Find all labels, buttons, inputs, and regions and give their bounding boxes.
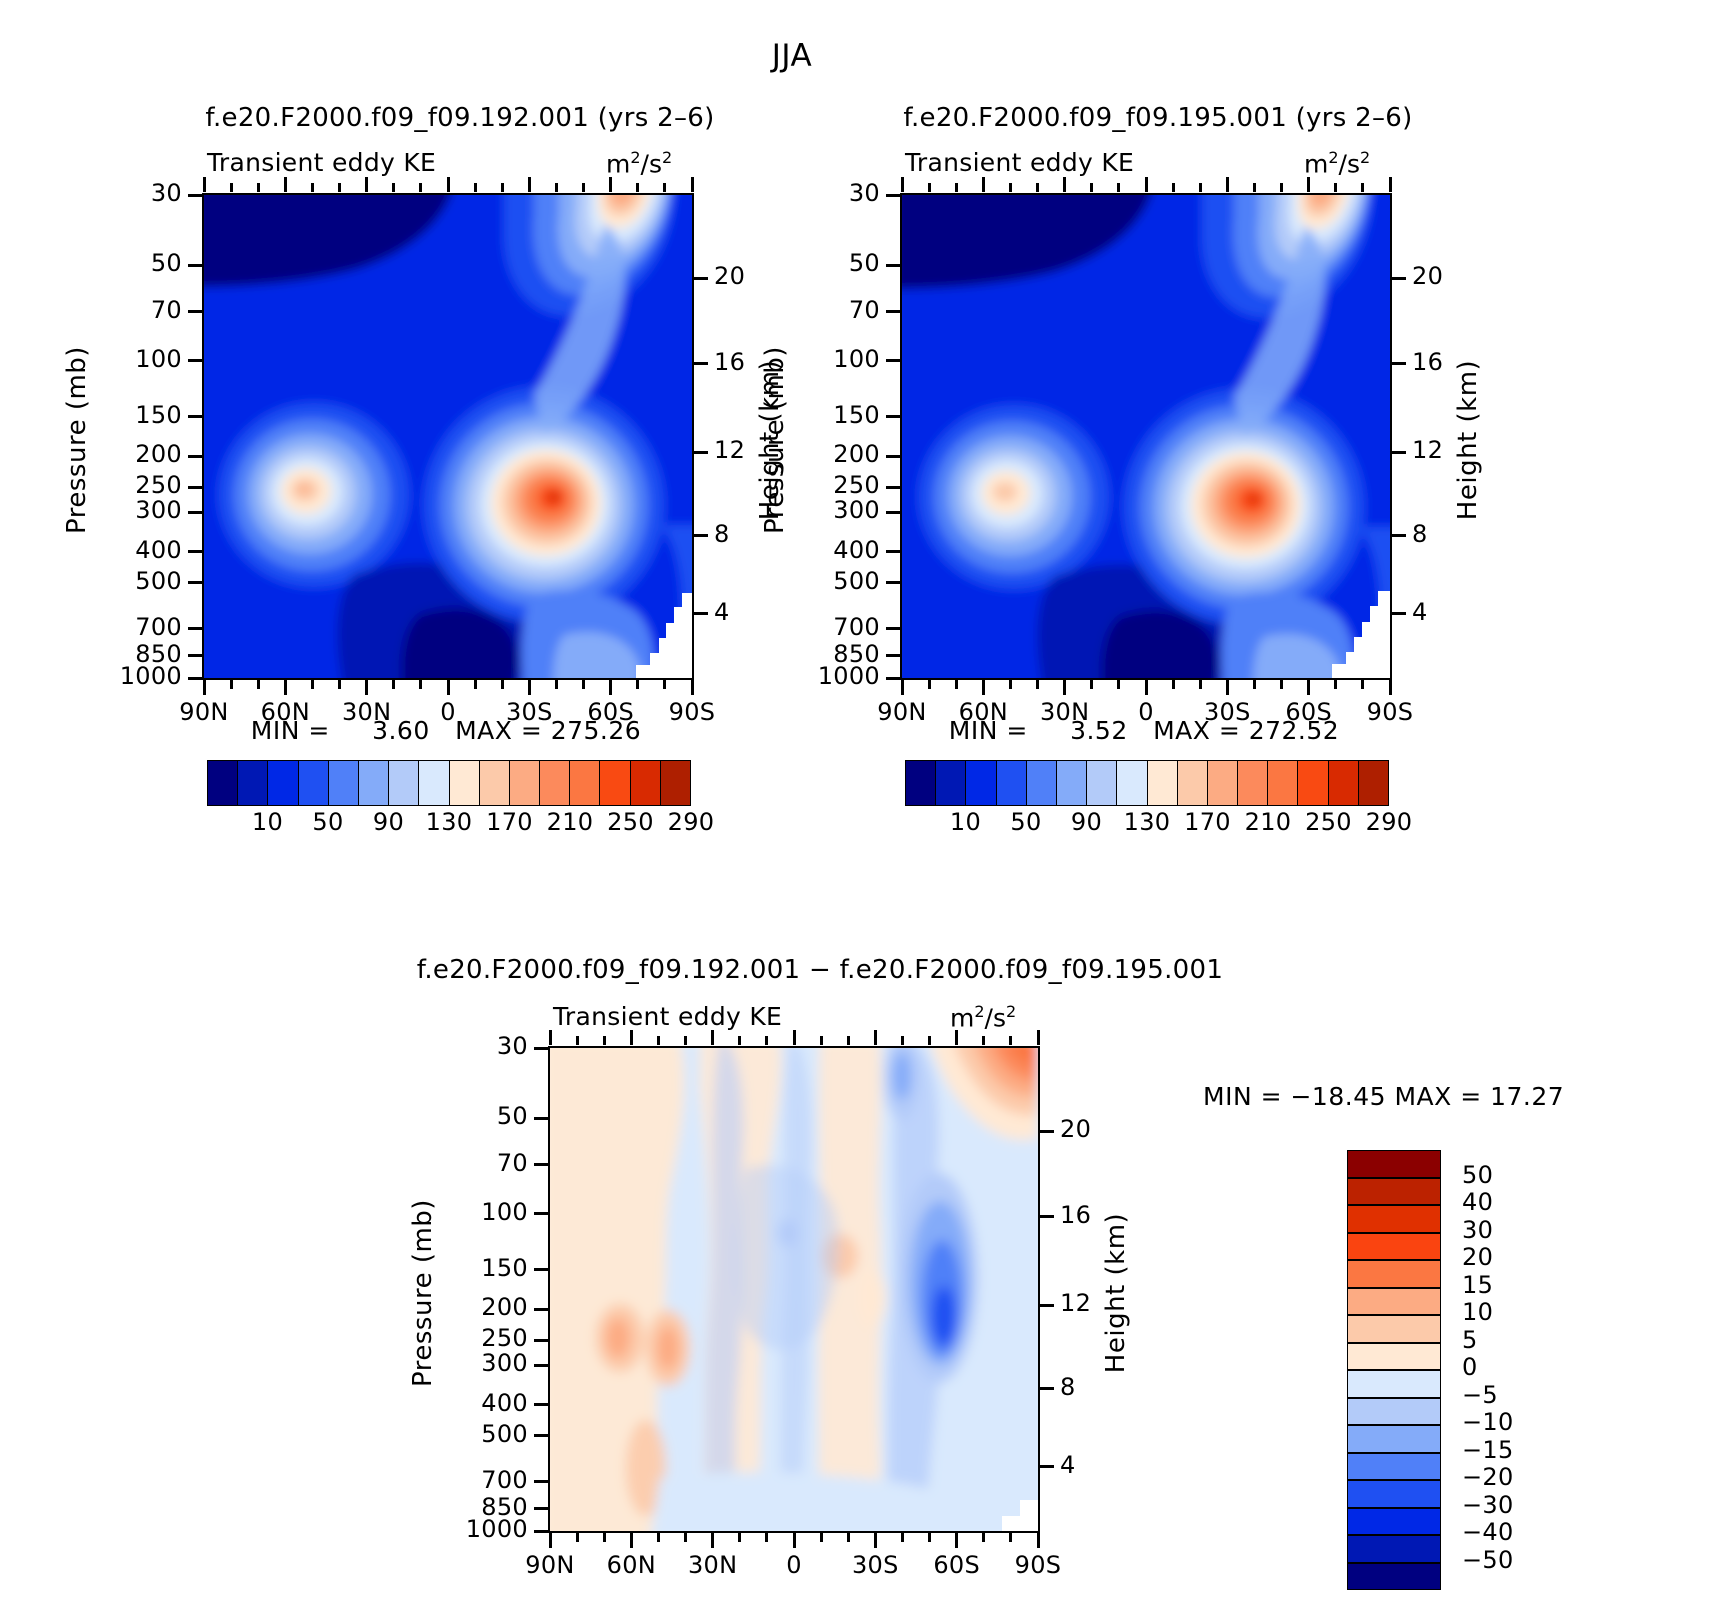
lat-minor-tick: [1009, 1533, 1012, 1542]
lat-minor-tick-top: [1199, 183, 1202, 192]
lat-minor-tick-top: [474, 183, 477, 192]
colorbar-tick-label: 15: [1462, 1271, 1572, 1299]
panel-left-units: m2/s2: [606, 148, 672, 178]
colorbar-cell: [569, 760, 599, 806]
lat-major-tick: [630, 1533, 633, 1548]
lat-minor-tick-top: [257, 183, 260, 192]
colorbar-tick-label: 5: [1462, 1326, 1572, 1354]
colorbar-cell: [267, 760, 297, 806]
lat-minor-tick: [1253, 680, 1256, 689]
lat-major-tick-top: [901, 177, 904, 192]
lat-minor-tick-top: [955, 183, 958, 192]
lat-major-tick-top: [630, 1030, 633, 1045]
units-base: m: [1304, 149, 1328, 178]
units-base: m: [950, 1003, 974, 1032]
lat-minor-tick-top: [555, 183, 558, 192]
units-exp-den: 2: [1360, 148, 1370, 167]
latitude-tick-label: 60S: [907, 1551, 1007, 1579]
panel-left-colorbar-labels: 105090130170210250290: [207, 808, 691, 840]
colorbar-cell: [996, 760, 1026, 806]
lat-minor-tick: [1334, 680, 1337, 689]
lat-minor-tick: [738, 1533, 741, 1542]
colorbar-cell: [358, 760, 388, 806]
colorbar-cell: [1347, 1370, 1441, 1398]
pressure-tick-label: 850: [770, 640, 880, 668]
lat-minor-tick: [392, 680, 395, 689]
lat-major-tick-top: [711, 1030, 714, 1045]
lat-minor-tick: [765, 1533, 768, 1542]
pressure-tick-label: 700: [418, 1466, 528, 1494]
pressure-tick-label: 700: [72, 613, 182, 641]
lat-minor-tick-top: [576, 1036, 579, 1045]
lat-minor-tick-top: [901, 1036, 904, 1045]
colorbar-cell: [388, 760, 418, 806]
colorbar-cell: [1297, 760, 1327, 806]
panel-right-units: m2/s2: [1304, 148, 1370, 178]
units-base: m: [606, 149, 630, 178]
colorbar-tick-label: −20: [1462, 1463, 1572, 1491]
lat-minor-tick: [338, 680, 341, 689]
colorbar-cell: [298, 760, 328, 806]
lat-major-tick: [549, 1533, 552, 1548]
panel-left-y-axis-title: Pressure (mb): [62, 310, 92, 570]
panel-diff-colorbar-labels: 50403020151050−5−10−15−20−30−40−50: [1450, 1150, 1570, 1590]
colorbar-tick-label: 10: [1462, 1298, 1572, 1326]
colorbar-tick-label: 20: [1462, 1243, 1572, 1271]
lat-major-tick-top: [1063, 177, 1066, 192]
panel-left-colorbar[interactable]: [207, 760, 691, 806]
lat-minor-tick-top: [1117, 183, 1120, 192]
units-exp-den: 2: [662, 148, 672, 167]
colorbar-cell: [1347, 1150, 1441, 1178]
lat-minor-tick: [419, 680, 422, 689]
panel-diff-y-axis-title: Pressure (mb): [408, 1163, 438, 1423]
colorbar-cell: [1056, 760, 1086, 806]
pressure-tick-label: 1000: [72, 662, 182, 690]
lat-major-tick: [365, 680, 368, 695]
lat-minor-tick: [501, 680, 504, 689]
lat-major-tick: [874, 1533, 877, 1548]
colorbar-cell: [1207, 760, 1237, 806]
colorbar-cell: [1147, 760, 1177, 806]
lat-major-tick-top: [447, 177, 450, 192]
height-tick-label: 4: [1412, 598, 1472, 626]
lat-minor-tick-top: [1009, 1036, 1012, 1045]
colorbar-tick-label: 50: [1462, 1161, 1572, 1189]
height-tick-label: 4: [714, 598, 774, 626]
colorbar-cell: [599, 760, 629, 806]
lat-major-tick: [691, 680, 694, 695]
lat-major-tick: [528, 680, 531, 695]
pressure-tick-label: 1000: [770, 662, 880, 690]
panel-right-title: f.e20.F2000.f09_f09.195.001 (yrs 2–6): [778, 103, 1538, 133]
lat-major-tick-top: [874, 1030, 877, 1045]
colorbar-cell: [905, 760, 935, 806]
lat-major-tick-top: [203, 177, 206, 192]
lat-major-tick-top: [609, 177, 612, 192]
colorbar-cell: [479, 760, 509, 806]
colorbar-tick-label: 0: [1462, 1353, 1572, 1381]
colorbar-cell: [1347, 1508, 1441, 1536]
colorbar-cell: [1116, 760, 1146, 806]
height-tick-mark: [1390, 451, 1406, 454]
lat-minor-tick-top: [684, 1036, 687, 1045]
height-tick-mark: [692, 362, 708, 365]
colorbar-cell: [1347, 1398, 1441, 1426]
colorbar-cell: [1358, 760, 1389, 806]
lat-major-tick-top: [691, 177, 694, 192]
lat-minor-tick-top: [501, 183, 504, 192]
pressure-tick-label: 500: [72, 567, 182, 595]
lat-minor-tick: [955, 680, 958, 689]
latitude-tick-label: 90N: [500, 1551, 600, 1579]
colorbar-cell: [1267, 760, 1297, 806]
panel-right-colorbar[interactable]: [905, 760, 1389, 806]
colorbar-tick-label: 40: [1462, 1188, 1572, 1216]
lat-minor-tick: [603, 1533, 606, 1542]
panel-diff-contour-field: [550, 1048, 1038, 1531]
pressure-tick-label: 50: [770, 249, 880, 277]
lat-minor-tick-top: [657, 1036, 660, 1045]
panel-left-minmax: MIN = 3.60 MAX = 275.26: [202, 716, 690, 745]
lat-minor-tick-top: [338, 183, 341, 192]
pressure-tick-label: 30: [770, 179, 880, 207]
lat-major-tick: [284, 680, 287, 695]
latitude-tick-label: 90S: [988, 1551, 1088, 1579]
colorbar-tick-label: 30: [1462, 1216, 1572, 1244]
panel-right-y2-axis-title: Height (km): [1453, 310, 1483, 570]
lat-minor-tick: [901, 1533, 904, 1542]
lat-major-tick: [1063, 680, 1066, 695]
lat-major-tick: [203, 680, 206, 695]
colorbar-cell: [1026, 760, 1056, 806]
height-tick-mark: [1038, 1465, 1054, 1468]
lat-minor-tick: [474, 680, 477, 689]
colorbar-cell: [1347, 1425, 1441, 1453]
latitude-tick-label: 60N: [581, 1551, 681, 1579]
panel-diff-plot-area[interactable]: [548, 1046, 1040, 1533]
colorbar-cell: [1328, 760, 1358, 806]
lat-major-tick-top: [1307, 177, 1310, 192]
lat-minor-tick-top: [738, 1036, 741, 1045]
lat-minor-tick-top: [928, 1036, 931, 1045]
lat-minor-tick: [663, 680, 666, 689]
lat-major-tick-top: [793, 1030, 796, 1045]
height-tick-mark: [1390, 612, 1406, 615]
lat-minor-tick-top: [1361, 183, 1364, 192]
lat-major-tick-top: [284, 177, 287, 192]
lat-minor-tick-top: [1009, 183, 1012, 192]
colorbar-cell: [1237, 760, 1267, 806]
colorbar-cell: [660, 760, 691, 806]
colorbar-tick-label: 290: [646, 808, 736, 836]
panel-left-contour-field: [204, 195, 692, 678]
panel-right-minmax: MIN = 3.52 MAX = 272.52: [900, 716, 1388, 745]
lat-minor-tick-top: [1334, 183, 1337, 192]
lat-minor-tick: [847, 1533, 850, 1542]
colorbar-cell: [1347, 1453, 1441, 1481]
lat-minor-tick: [311, 680, 314, 689]
lat-major-tick: [955, 1533, 958, 1548]
lat-major-tick: [793, 1533, 796, 1548]
units-exp-den: 2: [1006, 1002, 1016, 1021]
units-exp-num: 2: [974, 1002, 984, 1021]
lat-major-tick: [609, 680, 612, 695]
lat-major-tick: [1145, 680, 1148, 695]
lat-minor-tick: [582, 680, 585, 689]
pressure-tick-label: 30: [418, 1032, 528, 1060]
panel-left-title: f.e20.F2000.f09_f09.192.001 (yrs 2–6): [80, 103, 840, 133]
lat-major-tick: [447, 680, 450, 695]
colorbar-cell: [1177, 760, 1207, 806]
lat-minor-tick: [684, 1533, 687, 1542]
colorbar-cell: [630, 760, 660, 806]
colorbar-cell: [1347, 1233, 1441, 1261]
lat-major-tick-top: [1226, 177, 1229, 192]
pressure-tick-label: 30: [72, 179, 182, 207]
lat-minor-tick: [982, 1533, 985, 1542]
lat-minor-tick-top: [582, 183, 585, 192]
lat-minor-tick-top: [636, 183, 639, 192]
lat-minor-tick-top: [663, 183, 666, 192]
colorbar-cell: [1347, 1563, 1441, 1591]
colorbar-cell: [418, 760, 448, 806]
panel-diff-title: f.e20.F2000.f09_f09.192.001 − f.e20.F200…: [280, 955, 1360, 985]
height-tick-mark: [692, 277, 708, 280]
units-denominator: /s: [641, 149, 662, 178]
pressure-tick-label: 850: [418, 1493, 528, 1521]
colorbar-tick-label: −15: [1462, 1436, 1572, 1464]
lat-minor-tick: [1009, 680, 1012, 689]
lat-minor-tick: [1090, 680, 1093, 689]
lat-minor-tick: [1036, 680, 1039, 689]
height-tick-label: 20: [1412, 262, 1472, 290]
height-tick-mark: [1390, 534, 1406, 537]
colorbar-cell: [1347, 1535, 1441, 1563]
lat-minor-tick-top: [392, 183, 395, 192]
lat-minor-tick: [230, 680, 233, 689]
lat-minor-tick: [928, 680, 931, 689]
units-denominator: /s: [985, 1003, 1006, 1032]
pressure-tick-label: 50: [72, 249, 182, 277]
lat-minor-tick-top: [311, 183, 314, 192]
colorbar-cell: [207, 760, 237, 806]
lat-major-tick-top: [982, 177, 985, 192]
colorbar-cell: [1347, 1260, 1441, 1288]
colorbar-cell: [965, 760, 995, 806]
height-tick-mark: [1038, 1387, 1054, 1390]
height-tick-mark: [692, 451, 708, 454]
colorbar-cell: [237, 760, 267, 806]
colorbar-cell: [509, 760, 539, 806]
units-exp-num: 2: [630, 148, 640, 167]
lat-major-tick: [711, 1533, 714, 1548]
lat-minor-tick-top: [765, 1036, 768, 1045]
colorbar-cell: [1347, 1315, 1441, 1343]
lat-minor-tick: [1199, 680, 1202, 689]
lat-minor-tick: [820, 1533, 823, 1542]
units-denominator: /s: [1339, 149, 1360, 178]
colorbar-cell: [935, 760, 965, 806]
lat-minor-tick-top: [1036, 183, 1039, 192]
lat-minor-tick-top: [928, 183, 931, 192]
lat-minor-tick: [1117, 680, 1120, 689]
units-exp-num: 2: [1328, 148, 1338, 167]
panel-right-contour-field: [902, 195, 1390, 678]
panel-diff-units: m2/s2: [950, 1002, 1016, 1032]
colorbar-cell: [1347, 1343, 1441, 1371]
height-tick-mark: [1390, 277, 1406, 280]
pressure-tick-label: 500: [418, 1420, 528, 1448]
colorbar-cell: [1086, 760, 1116, 806]
pressure-tick-label: 50: [418, 1102, 528, 1130]
colorbar-cell: [1347, 1178, 1441, 1206]
pressure-tick-label: 850: [72, 640, 182, 668]
colorbar-tick-label: −10: [1462, 1408, 1572, 1436]
lat-minor-tick-top: [847, 1036, 850, 1045]
colorbar-tick-label: −5: [1462, 1381, 1572, 1409]
lat-major-tick-top: [365, 177, 368, 192]
pressure-tick-label: 1000: [418, 1515, 528, 1543]
colorbar-cell: [1347, 1288, 1441, 1316]
lat-minor-tick: [1280, 680, 1283, 689]
lat-major-tick-top: [1389, 177, 1392, 192]
lat-major-tick: [982, 680, 985, 695]
lat-minor-tick: [555, 680, 558, 689]
panel-diff-variable-label: Transient eddy KE: [553, 1002, 782, 1031]
lat-major-tick: [901, 680, 904, 695]
colorbar-cell: [539, 760, 569, 806]
latitude-tick-label: 30N: [663, 1551, 763, 1579]
lat-minor-tick: [928, 1533, 931, 1542]
panel-right-variable-label: Transient eddy KE: [905, 148, 1134, 177]
lat-minor-tick-top: [1253, 183, 1256, 192]
lat-minor-tick: [1172, 680, 1175, 689]
lat-minor-tick-top: [1090, 183, 1093, 192]
lat-minor-tick-top: [230, 183, 233, 192]
lat-major-tick: [1389, 680, 1392, 695]
lat-minor-tick-top: [603, 1036, 606, 1045]
panel-diff-minmax: MIN = −18.45 MAX = 17.27: [1203, 1082, 1564, 1111]
height-tick-mark: [1038, 1304, 1054, 1307]
colorbar-tick-label: −30: [1462, 1491, 1572, 1519]
figure-season-title: JJA: [0, 38, 1584, 74]
lat-minor-tick: [657, 1533, 660, 1542]
lat-minor-tick: [1361, 680, 1364, 689]
lat-minor-tick: [576, 1533, 579, 1542]
lat-minor-tick-top: [982, 1036, 985, 1045]
height-tick-label: 4: [1060, 1451, 1120, 1479]
height-tick-mark: [692, 534, 708, 537]
colorbar-cell: [449, 760, 479, 806]
height-tick-label: 20: [714, 262, 774, 290]
panel-left-plot-area[interactable]: [202, 193, 694, 680]
colorbar-cell: [328, 760, 358, 806]
lat-major-tick: [1037, 1533, 1040, 1548]
colorbar-tick-label: −40: [1462, 1518, 1572, 1546]
lat-major-tick-top: [528, 177, 531, 192]
latitude-tick-label: 30S: [825, 1551, 925, 1579]
lat-major-tick: [1307, 680, 1310, 695]
pressure-tick-label: 700: [770, 613, 880, 641]
lat-minor-tick: [257, 680, 260, 689]
height-tick-mark: [692, 612, 708, 615]
height-tick-label: 20: [1060, 1115, 1120, 1143]
lat-major-tick-top: [549, 1030, 552, 1045]
lat-major-tick: [1226, 680, 1229, 695]
colorbar-tick-label: −50: [1462, 1546, 1572, 1574]
panel-diff-colorbar[interactable]: [1347, 1150, 1441, 1590]
colorbar-tick-label: 290: [1344, 808, 1434, 836]
colorbar-cell: [1347, 1480, 1441, 1508]
colorbar-cell: [1347, 1205, 1441, 1233]
latitude-tick-label: 0: [744, 1551, 844, 1579]
panel-right-y-axis-title: Pressure (mb): [760, 310, 790, 570]
panel-diff-y2-axis-title: Height (km): [1101, 1163, 1131, 1423]
panel-right-colorbar-labels: 105090130170210250290: [905, 808, 1389, 840]
pressure-tick-label: 500: [770, 567, 880, 595]
lat-minor-tick-top: [1172, 183, 1175, 192]
lat-major-tick-top: [1145, 177, 1148, 192]
lat-minor-tick: [636, 680, 639, 689]
lat-minor-tick-top: [820, 1036, 823, 1045]
height-tick-mark: [1038, 1215, 1054, 1218]
panel-right-plot-area[interactable]: [900, 193, 1392, 680]
lat-minor-tick-top: [419, 183, 422, 192]
lat-minor-tick-top: [1280, 183, 1283, 192]
panel-left-variable-label: Transient eddy KE: [207, 148, 436, 177]
height-tick-mark: [1038, 1130, 1054, 1133]
lat-major-tick-top: [1037, 1030, 1040, 1045]
height-tick-mark: [1390, 362, 1406, 365]
